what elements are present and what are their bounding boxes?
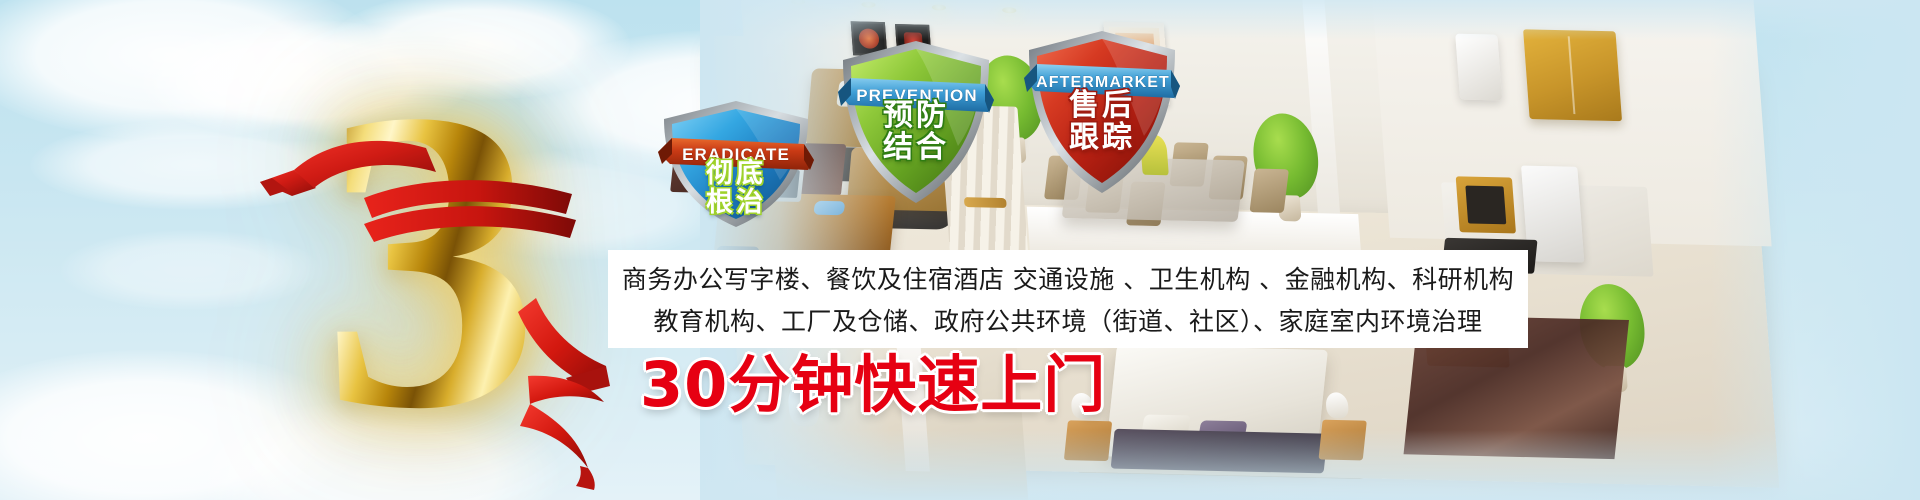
headline-text: 30分钟快速上门 <box>640 352 1106 417</box>
gold-numeral-glyph: 3 <box>320 45 539 475</box>
ceiling-light <box>932 4 947 10</box>
dining-chair <box>1249 169 1289 213</box>
range-hood <box>1455 34 1502 101</box>
built-in-oven <box>1456 176 1516 233</box>
promo-banner: 3 <box>0 0 1920 500</box>
kitchen-upper-cabinet <box>1523 29 1622 121</box>
bed-footboard <box>1111 429 1328 474</box>
gold-numeral-three: 3 <box>240 60 620 460</box>
service-scope-line-1: 商务办公写字楼、餐饮及住宿酒店 交通设施 、卫生机构 、金融机构、科研机构 <box>622 260 1514 296</box>
ceiling-light <box>861 1 876 7</box>
nightstand <box>1064 420 1112 461</box>
shield-badge-prevention: PREVENTION 预防 结合 <box>838 38 994 206</box>
service-scope-line-2: 教育机构、工厂及仓储、政府公共环境（街道、社区）、家庭室内环境治理 <box>653 302 1482 338</box>
shield-prevention-band-label: PREVENTION <box>856 86 978 105</box>
nightstand <box>1318 420 1366 461</box>
ceiling-light <box>1002 7 1017 13</box>
shield-prevention-icon: PREVENTION <box>838 38 994 206</box>
shield-badge-aftermarket: AFTERMARKET 售后 跟踪 <box>1024 28 1180 196</box>
shield-aftermarket-band-label: AFTERMARKET <box>1036 74 1170 91</box>
shield-eradicate-band-label: ERADICATE <box>682 145 790 164</box>
service-scope-panel: 商务办公写字楼、餐饮及住宿酒店 交通设施 、卫生机构 、金融机构、科研机构 教育… <box>608 250 1528 348</box>
shield-aftermarket-icon: AFTERMARKET <box>1024 28 1180 196</box>
shield-badge-eradicate: ERADICATE 彻底 根治 <box>658 98 814 230</box>
shield-eradicate-icon: ERADICATE <box>658 98 814 230</box>
